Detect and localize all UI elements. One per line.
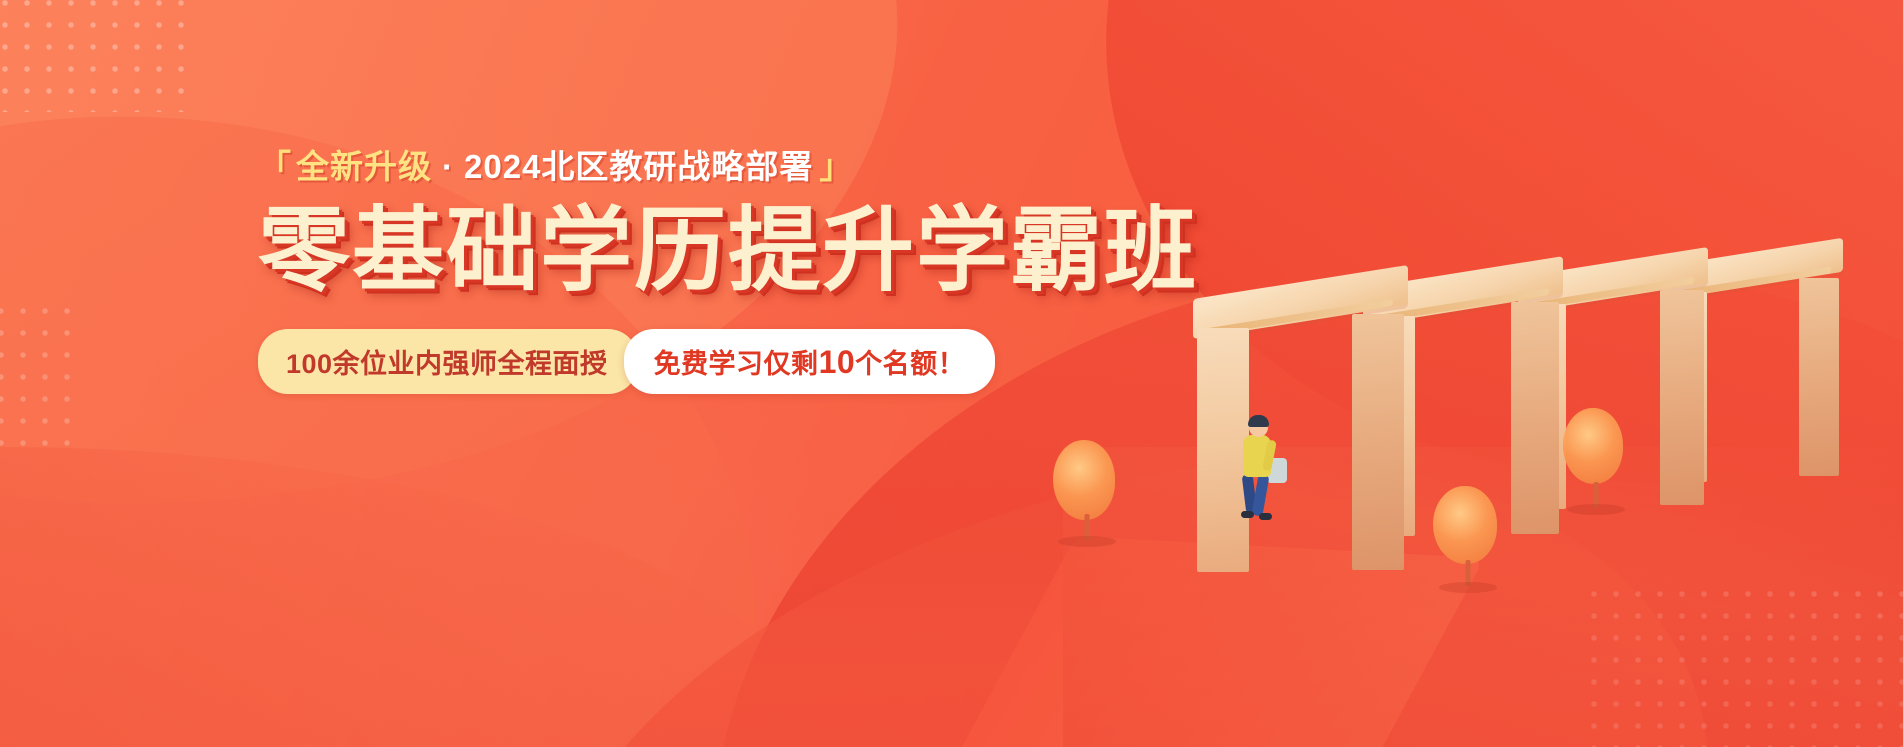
promo-banner: 「全新升级·2024北区教研战略部署」 零基础学历提升学霸班 100余位业内强师… [0, 0, 1903, 747]
page-title: 零基础学历提升学霸班 [258, 205, 1018, 299]
subtitle-separator: · [442, 148, 454, 185]
background-diagonal-slash [936, 536, 1485, 747]
badge-free-seats-prefix: 免费学习仅剩 [654, 349, 819, 379]
background-wave-bottom-left [0, 447, 820, 747]
book-arch-4 [1663, 252, 1843, 502]
background-wave-top-right [1011, 0, 1903, 623]
tree-left [1053, 440, 1121, 540]
copy-block: 「全新升级·2024北区教研战略部署」 零基础学历提升学霸班 100余位业内强师… [258, 150, 1018, 394]
tree-right [1563, 408, 1629, 508]
bracket-right-icon: 」 [819, 148, 853, 185]
dot-pattern-bottom-right [1583, 583, 1903, 747]
badge-instructors: 100余位业内强师全程面授 [258, 329, 638, 394]
bracket-left-icon: 「 [258, 148, 292, 185]
subtitle-highlight: 全新升级 [296, 148, 432, 185]
book-arch-2 [1363, 272, 1563, 562]
badge-free-seats-suffix: 个名额！ [855, 349, 965, 379]
walking-student [1233, 418, 1303, 523]
dot-pattern-top-left [0, 0, 194, 112]
book-arch-3 [1518, 262, 1708, 532]
dot-pattern-mid-left [0, 300, 80, 450]
subtitle: 「全新升级·2024北区教研战略部署」 [258, 150, 1018, 183]
badge-free-seats-number: 10 [819, 344, 856, 380]
subtitle-rest: 2024北区教研战略部署 [464, 148, 813, 185]
badge-row: 100余位业内强师全程面授 免费学习仅剩10个名额！ [258, 329, 1018, 394]
badge-free-seats: 免费学习仅剩10个名额！ [624, 329, 996, 394]
